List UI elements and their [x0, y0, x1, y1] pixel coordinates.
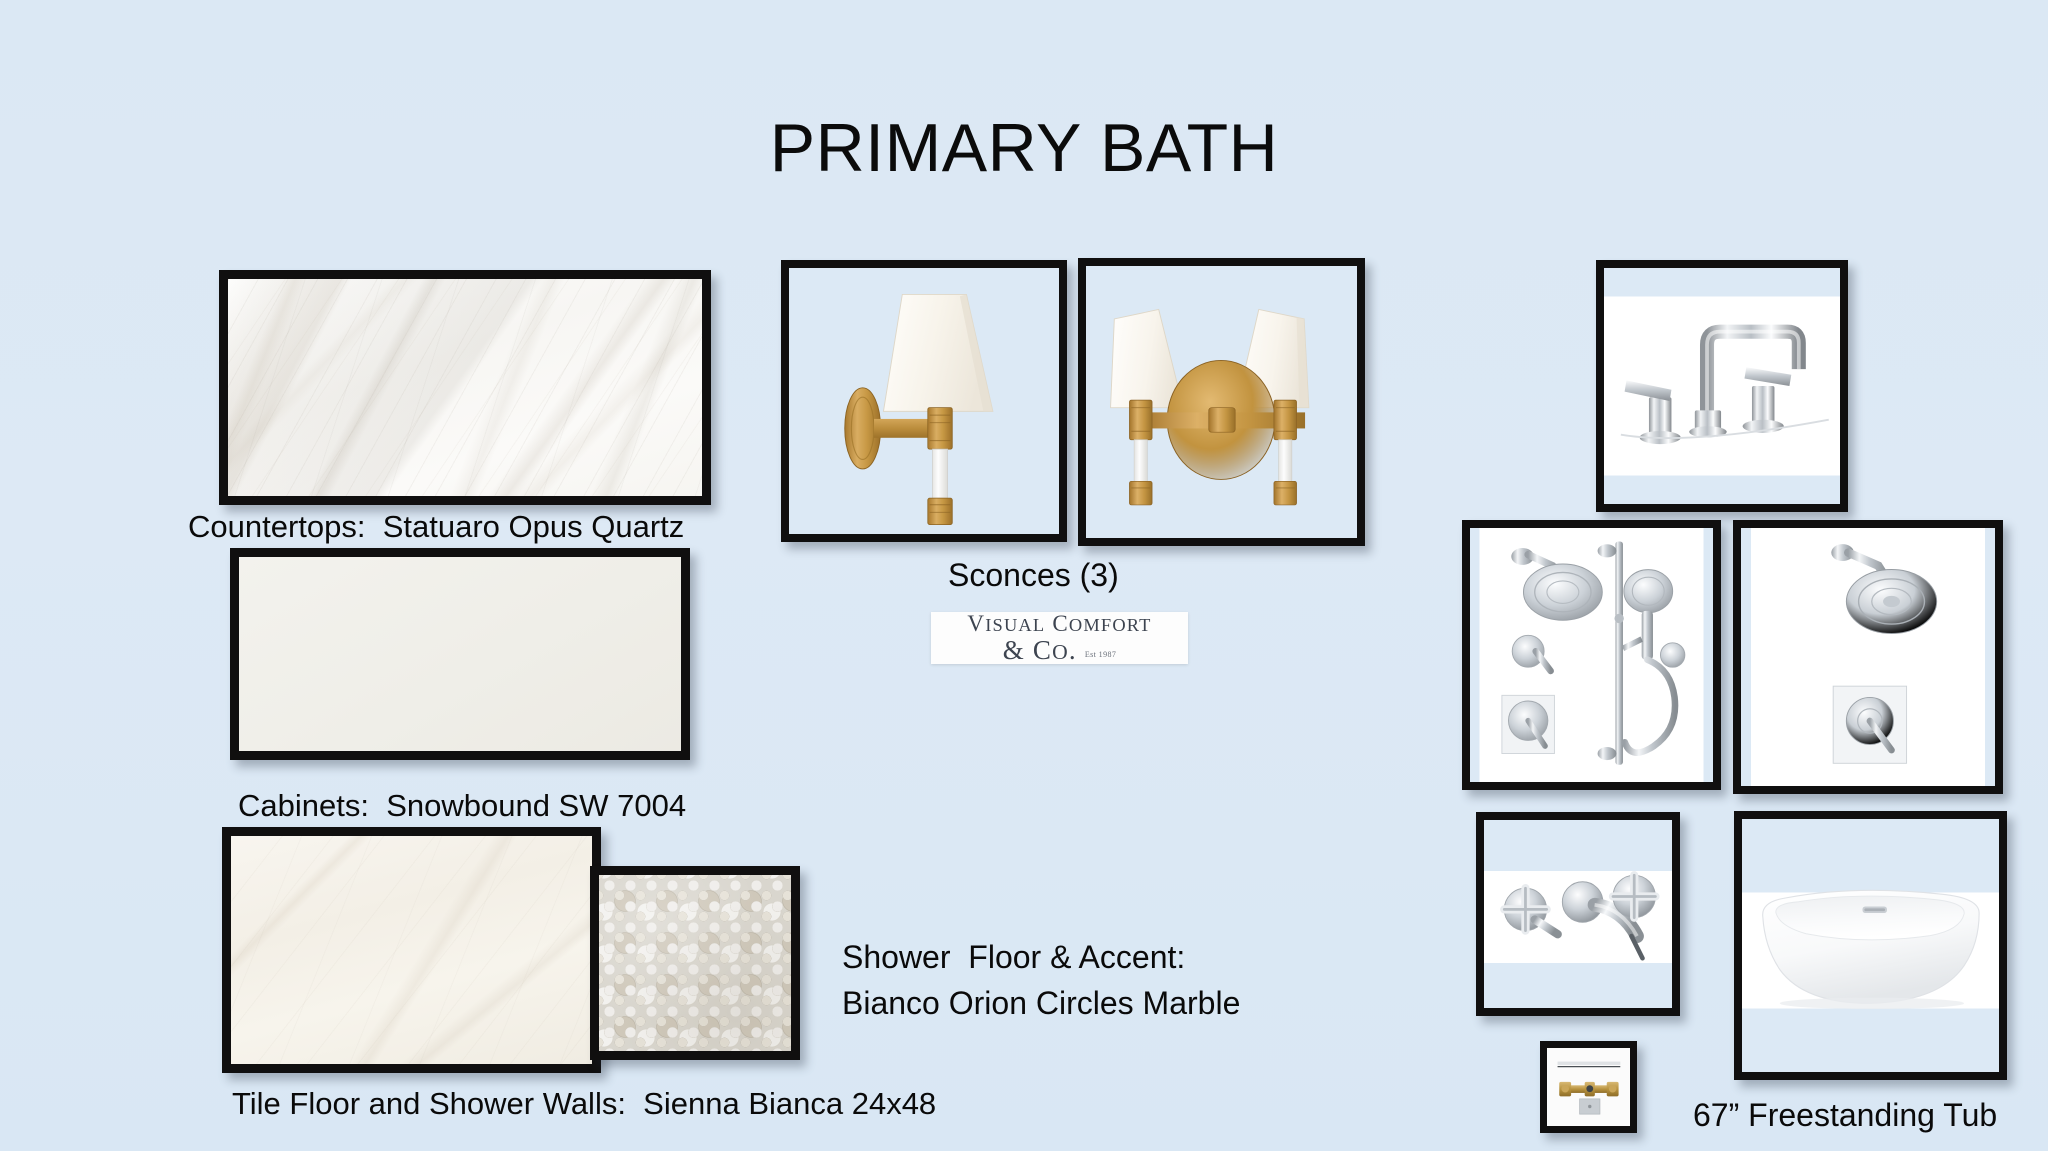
- shower-floor-label-line2: Bianco Orion Circles Marble: [842, 984, 1240, 1023]
- mosaic-accent-swatch[interactable]: [590, 866, 800, 1060]
- rough-in-valve-image: [1547, 1048, 1630, 1126]
- logo-and-c: & C: [1003, 635, 1052, 665]
- shower-system-illustration: [1470, 528, 1713, 782]
- double-sconce-photo[interactable]: [1078, 258, 1365, 546]
- double-sconce-illustration: [1086, 266, 1357, 538]
- shower-system-photo[interactable]: [1462, 520, 1721, 790]
- cabinet-paint-swatch[interactable]: [230, 548, 690, 760]
- single-sconce-image: [789, 268, 1059, 534]
- logo-period: .: [1069, 635, 1077, 665]
- logo-v: V: [967, 611, 985, 636]
- page-title: PRIMARY BATH: [0, 114, 2048, 182]
- widespread-faucet-photo[interactable]: [1596, 260, 1848, 512]
- shower-head-image: [1741, 528, 1995, 786]
- tub-label: 67” Freestanding Tub: [1693, 1096, 1997, 1135]
- wall-mount-faucet-image: [1484, 820, 1672, 1008]
- logo-established: Est 1987: [1085, 651, 1116, 659]
- double-sconce-image: [1086, 266, 1357, 538]
- cabinet-paint-fill: [239, 557, 681, 751]
- cabinets-label: Cabinets: Snowbound SW 7004: [238, 787, 686, 825]
- freestanding-tub-illustration: [1742, 819, 1999, 1072]
- rough-in-valve-illustration: [1547, 1048, 1630, 1126]
- single-sconce-illustration: [789, 268, 1059, 534]
- shower-floor-label-line1: Shower Floor & Accent:: [842, 938, 1185, 977]
- countertops-label: Countertops: Statuaro Opus Quartz: [188, 508, 684, 546]
- visual-comfort-logo: VISUAL COMFORT & CO. Est 1987: [931, 612, 1188, 664]
- floor-tile-swatch[interactable]: [222, 827, 601, 1073]
- shower-system-image: [1470, 528, 1713, 782]
- shower-head-illustration: [1741, 528, 1995, 786]
- floor-tile-texture: [231, 836, 592, 1064]
- single-sconce-photo[interactable]: [781, 260, 1067, 542]
- logo-c: C: [1052, 611, 1069, 636]
- widespread-faucet-image: [1604, 268, 1840, 504]
- logo-o: O: [1052, 640, 1069, 664]
- mood-board-canvas: PRIMARY BATH Countertops: Statuaro Opus …: [0, 0, 2048, 1151]
- wall-mount-faucet-photo[interactable]: [1476, 812, 1680, 1016]
- countertop-swatch[interactable]: [219, 270, 711, 505]
- freestanding-tub-photo[interactable]: [1734, 811, 2007, 1080]
- freestanding-tub-image: [1742, 819, 1999, 1072]
- logo-isual: ISUAL: [985, 615, 1045, 635]
- tile-floor-label: Tile Floor and Shower Walls: Sienna Bian…: [232, 1085, 936, 1123]
- countertop-marble-texture: [228, 279, 702, 496]
- rough-in-valve-photo[interactable]: [1540, 1041, 1637, 1133]
- logo-line-one: VISUAL COMFORT: [967, 612, 1151, 636]
- logo-ampersand-co: & CO.: [1003, 636, 1077, 664]
- shower-head-photo[interactable]: [1733, 520, 2003, 794]
- sconces-label: Sconces (3): [948, 556, 1119, 595]
- logo-omfort: OMFORT: [1069, 615, 1152, 635]
- logo-line-two: & CO. Est 1987: [1003, 636, 1117, 664]
- mosaic-circles-texture: [599, 875, 791, 1051]
- widespread-faucet-illustration: [1604, 268, 1840, 504]
- wall-mount-faucet-illustration: [1484, 820, 1672, 1008]
